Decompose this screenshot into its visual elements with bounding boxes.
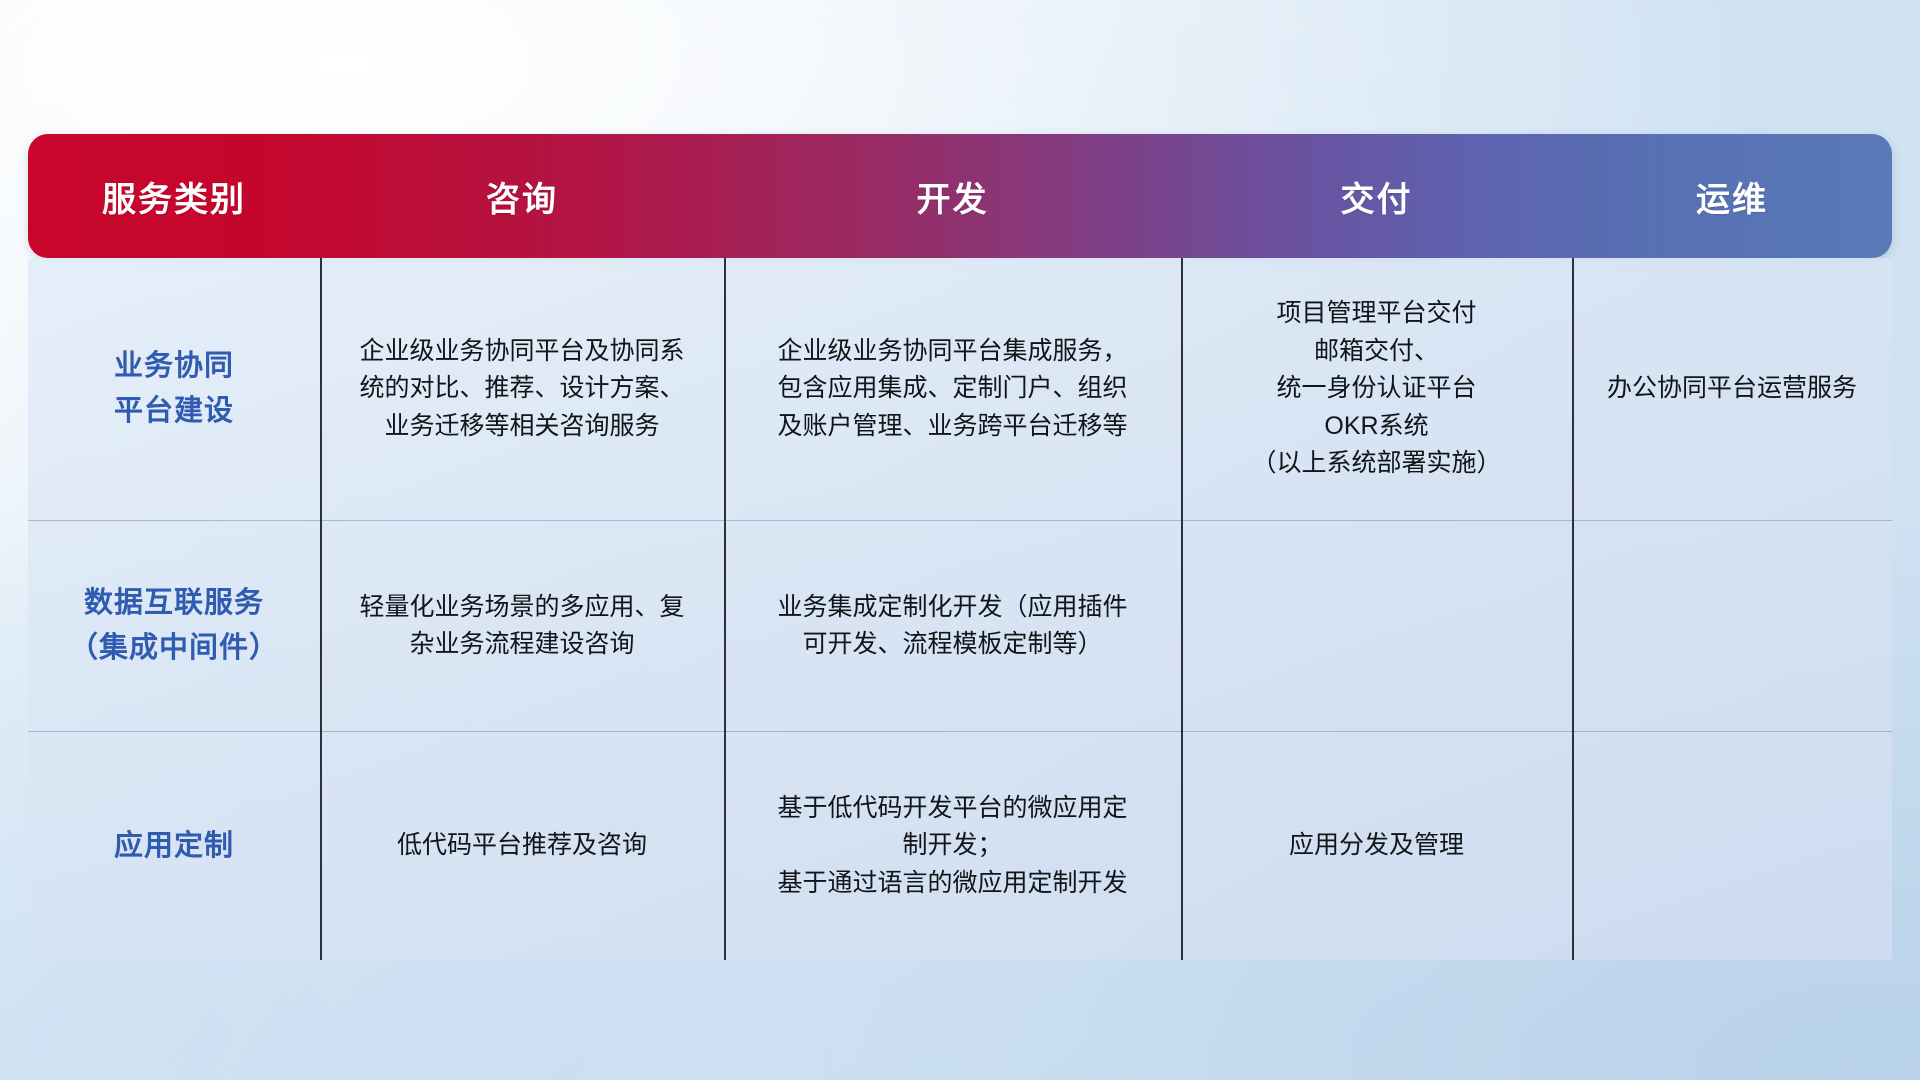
cell-development-row3: 基于低代码开发平台的微应用定 制开发； 基于通过语言的微应用定制开发 [724, 732, 1181, 960]
table-row: 数据互联服务 （集成中间件） 轻量化业务场景的多应用、复 杂业务流程建设咨询 业… [28, 521, 1892, 731]
service-matrix-table: 服务类别 咨询 开发 交付 运维 业务协同 平台建设 企业级业务协同平台及协同系… [28, 134, 1892, 960]
cell-development-row1: 企业级业务协同平台集成服务， 包含应用集成、定制门户、组织 及账户管理、业务跨平… [724, 258, 1181, 520]
column-header-development: 开发 [724, 134, 1181, 258]
row-label-data-interconnect: 数据互联服务 （集成中间件） [28, 521, 320, 731]
cell-operations-row1: 办公协同平台运营服务 [1572, 258, 1892, 520]
column-header-consulting: 咨询 [320, 134, 724, 258]
cell-consulting-row1: 企业级业务协同平台及协同系 统的对比、推荐、设计方案、 业务迁移等相关咨询服务 [320, 258, 724, 520]
column-header-operations: 运维 [1572, 134, 1892, 258]
cell-delivery-row1: 项目管理平台交付 邮箱交付、 统一身份认证平台 OKR系统 （以上系统部署实施） [1181, 258, 1572, 520]
cell-delivery-row2 [1181, 521, 1572, 731]
cell-operations-row3 [1572, 732, 1892, 960]
column-header-delivery: 交付 [1181, 134, 1572, 258]
column-header-category: 服务类别 [28, 134, 320, 258]
cell-consulting-row3: 低代码平台推荐及咨询 [320, 732, 724, 960]
cell-consulting-row2: 轻量化业务场景的多应用、复 杂业务流程建设咨询 [320, 521, 724, 731]
table-header-row: 服务类别 咨询 开发 交付 运维 [28, 134, 1892, 258]
cell-development-row2: 业务集成定制化开发（应用插件 可开发、流程模板定制等） [724, 521, 1181, 731]
cell-operations-row2 [1572, 521, 1892, 731]
table-row: 业务协同 平台建设 企业级业务协同平台及协同系 统的对比、推荐、设计方案、 业务… [28, 258, 1892, 520]
table-body: 业务协同 平台建设 企业级业务协同平台及协同系 统的对比、推荐、设计方案、 业务… [28, 258, 1892, 960]
cell-delivery-row3: 应用分发及管理 [1181, 732, 1572, 960]
table-row: 应用定制 低代码平台推荐及咨询 基于低代码开发平台的微应用定 制开发； 基于通过… [28, 732, 1892, 960]
row-label-app-customization: 应用定制 [28, 732, 320, 960]
row-label-business-collaboration: 业务协同 平台建设 [28, 258, 320, 520]
